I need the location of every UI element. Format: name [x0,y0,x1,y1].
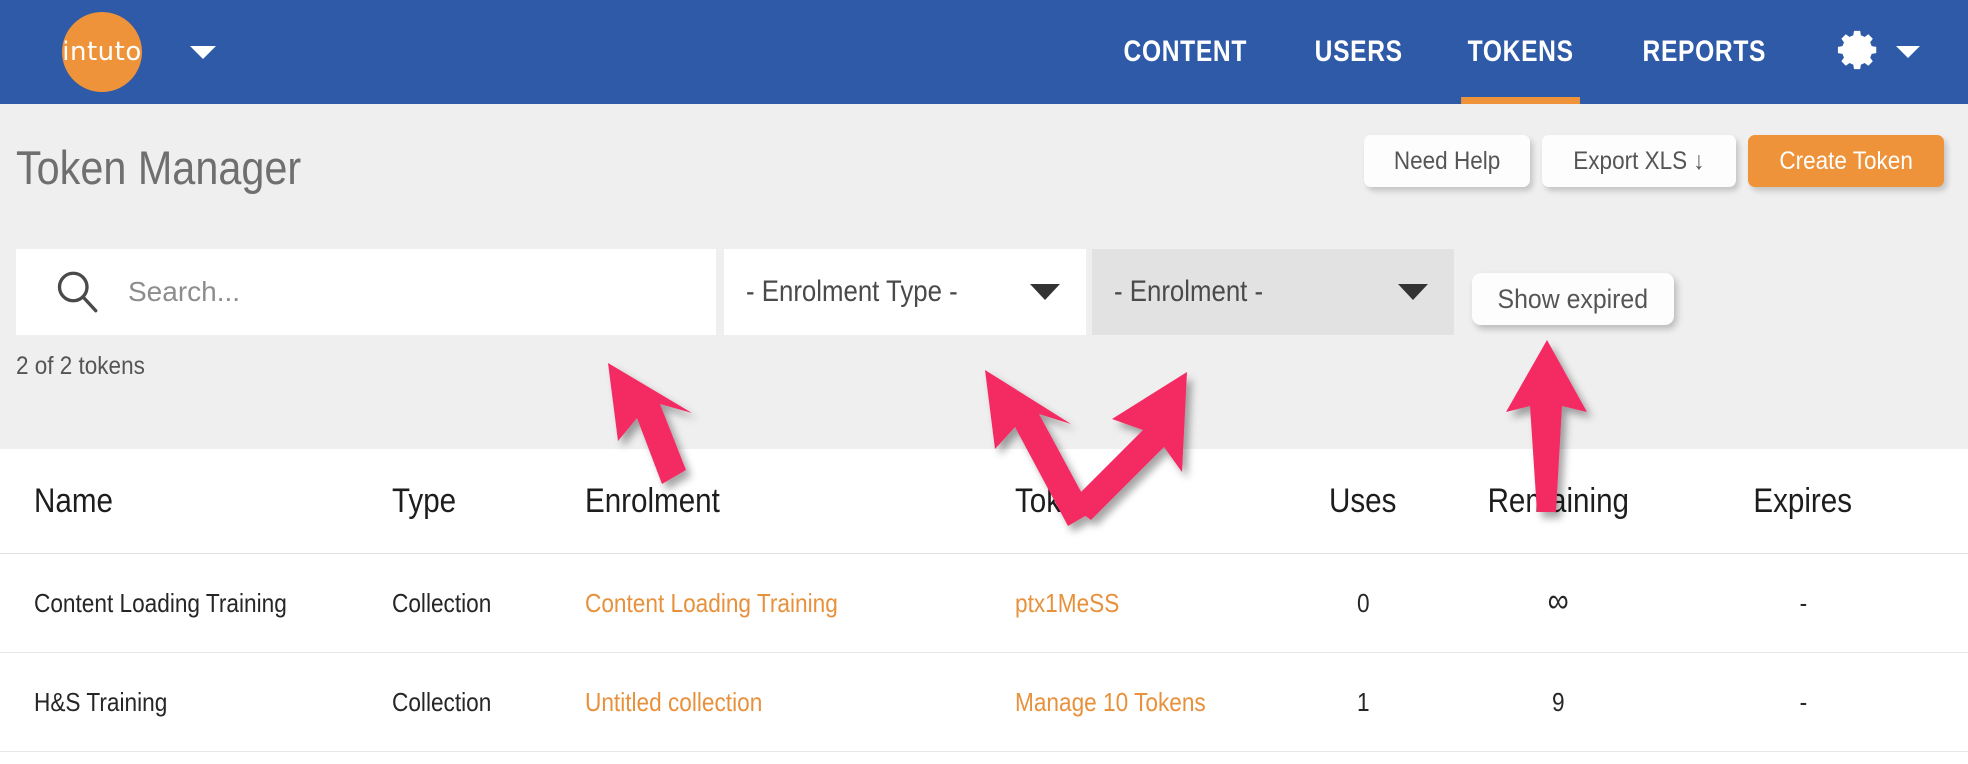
intuto-logo[interactable]: intuto [62,12,142,92]
column-header-uses[interactable]: Uses [1283,482,1443,521]
column-header-remaining[interactable]: Remaining [1443,482,1673,521]
cell-uses: 1 [1283,687,1443,718]
nav-item-users[interactable]: USERS [1296,0,1420,104]
header-actions: Need Help Export XLS ↓ Create Token [1364,135,1944,187]
nav-item-tokens[interactable]: TOKENS [1450,0,1592,104]
table-row[interactable]: H&S Training Collection Untitled collect… [0,653,1968,752]
chevron-down-icon[interactable] [190,46,216,59]
table-row[interactable]: Content Loading Training Collection Cont… [0,554,1968,653]
cell-name: H&S Training [0,687,392,718]
export-xls-button[interactable]: Export XLS ↓ [1542,135,1736,187]
nav-item-reports[interactable]: REPORTS [1625,0,1785,104]
search-input[interactable] [128,276,668,308]
show-expired-button[interactable]: Show expired [1472,273,1674,325]
logo-label: intuto [62,37,141,67]
column-header-type[interactable]: Type [392,482,585,521]
cell-expires: - [1673,687,1933,718]
cell-token-link[interactable]: ptx1MeSS [1015,588,1283,619]
create-token-label: Create Token [1779,147,1912,176]
caret-down-icon[interactable] [1398,284,1428,300]
gear-icon[interactable] [1836,27,1882,78]
column-header-expires[interactable]: Expires [1673,482,1933,521]
settings-menu[interactable] [1836,27,1920,78]
enrolment-select[interactable]: - Enrolment - [1092,249,1454,335]
cell-type: Collection [392,687,585,718]
tokens-table: Name Type Enrolment Token Uses Remaining… [0,449,1968,752]
nav-item-content[interactable]: CONTENT [1106,0,1266,104]
column-header-name[interactable]: Name [0,482,392,521]
cell-remaining: 9 [1443,687,1673,718]
search-icon [52,267,102,317]
enrolment-type-select[interactable]: - Enrolment Type - [724,249,1086,335]
page-title: Token Manager [16,140,301,195]
brand-area[interactable]: intuto [62,12,216,92]
page-header-band: Token Manager Need Help Export XLS ↓ Cre… [0,104,1968,245]
table-header-row: Name Type Enrolment Token Uses Remaining… [0,449,1968,554]
cell-type: Collection [392,588,585,619]
cell-enrolment-link[interactable]: Content Loading Training [585,588,1015,619]
column-header-enrolment[interactable]: Enrolment [585,482,1015,521]
top-navbar: intuto CONTENT USERS TOKENS REPORTS [0,0,1968,104]
cell-enrolment-link[interactable]: Untitled collection [585,687,1015,718]
cell-uses: 0 [1283,588,1443,619]
enrolment-type-value: - Enrolment Type - [746,275,958,309]
token-manager-page: intuto CONTENT USERS TOKENS REPORTS Toke… [0,0,1968,764]
results-count: 2 of 2 tokens [16,352,145,381]
cell-name: Content Loading Training [0,588,392,619]
create-token-button[interactable]: Create Token [1748,135,1944,187]
enrolment-value: - Enrolment - [1114,275,1263,309]
results-count-band: 2 of 2 tokens [0,335,1968,449]
need-help-button[interactable]: Need Help [1364,135,1530,187]
export-xls-label: Export XLS ↓ [1573,147,1704,176]
caret-down-icon[interactable] [1030,284,1060,300]
search-box[interactable] [16,249,716,335]
cell-token-link[interactable]: Manage 10 Tokens [1015,687,1283,718]
nav-items: CONTENT USERS TOKENS REPORTS [1088,0,1920,104]
cell-remaining: ∞ [1443,588,1673,619]
chevron-down-icon[interactable] [1896,46,1920,58]
show-expired-label: Show expired [1498,284,1649,315]
column-header-token[interactable]: Token [1015,482,1283,521]
need-help-label: Need Help [1394,147,1500,176]
cell-expires: - [1673,588,1933,619]
